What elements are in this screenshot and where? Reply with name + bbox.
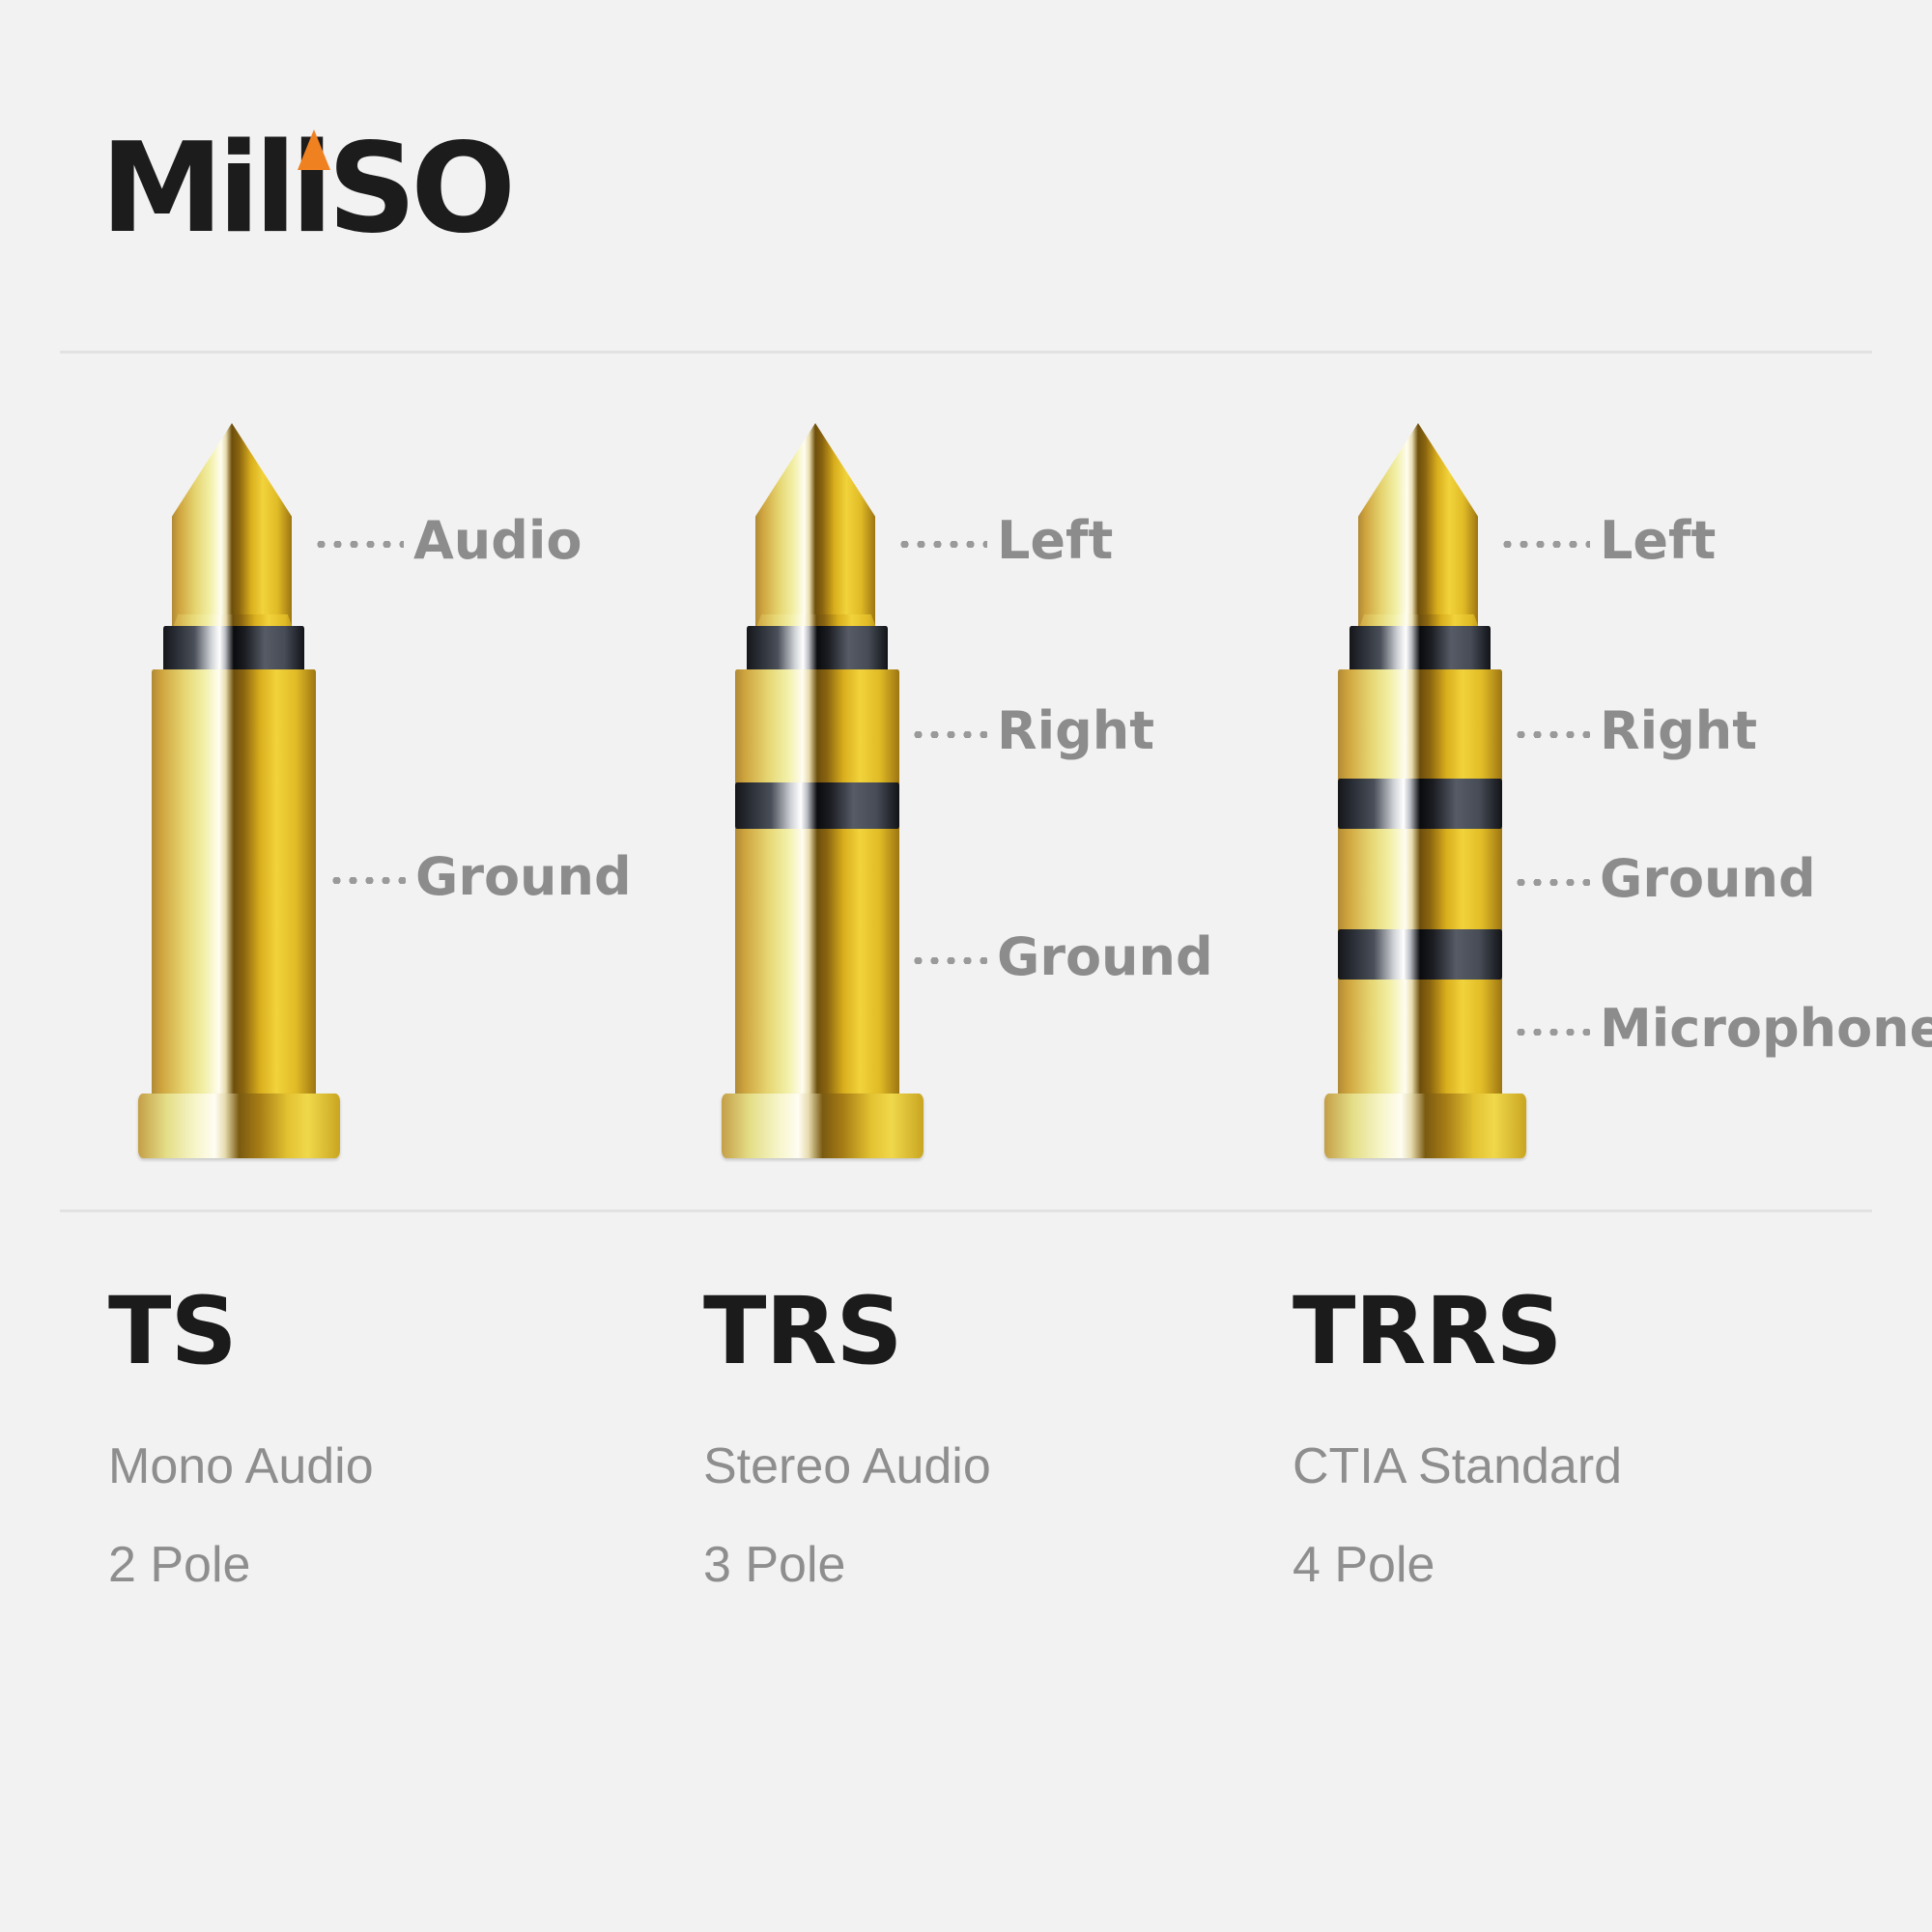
- info-poles-trs: 3 Pole: [703, 1540, 991, 1590]
- trrs-band-2: [1338, 779, 1502, 829]
- info-description-ts: Mono Audio: [108, 1441, 374, 1492]
- info-description-trrs: CTIA Standard: [1293, 1441, 1622, 1492]
- trrs-sleeve-shaft: [1338, 669, 1502, 1096]
- trs-band-2: [735, 782, 899, 829]
- ts-leader-ground: [328, 877, 406, 884]
- ts-label-audio: Audio: [413, 515, 582, 567]
- trrs-label-left: Left: [1600, 515, 1716, 567]
- info-title-trs: TRS: [703, 1285, 991, 1378]
- divider-top: [60, 351, 1872, 354]
- info-title-ts: TS: [108, 1285, 374, 1378]
- trrs-base-flange: [1324, 1094, 1526, 1158]
- trrs-label-right: Right: [1600, 705, 1757, 757]
- connector-illustrations: Audio Ground Left Right Ground: [0, 0, 1932, 1932]
- logo-triangle-accent-icon: [298, 129, 330, 170]
- trs-tip-cone: [755, 423, 875, 626]
- info-block-trrs: TRRS CTIA Standard 4 Pole: [1293, 1285, 1622, 1590]
- info-poles-trrs: 4 Pole: [1293, 1540, 1622, 1590]
- trs-leader-right: [910, 731, 987, 738]
- info-poles-ts: 2 Pole: [108, 1540, 374, 1590]
- trrs-band-3: [1338, 929, 1502, 980]
- ts-base-flange: [138, 1094, 340, 1158]
- brand-logo: MillSO: [100, 135, 510, 251]
- info-block-ts: TS Mono Audio 2 Pole: [108, 1285, 374, 1590]
- trs-label-right: Right: [997, 705, 1154, 757]
- ts-leader-audio: [313, 541, 404, 548]
- trrs-label-microphone: Microphone: [1600, 1003, 1932, 1055]
- info-block-trs: TRS Stereo Audio 3 Pole: [703, 1285, 991, 1590]
- trs-label-left: Left: [997, 515, 1113, 567]
- ts-tip-cone: [172, 423, 292, 626]
- trrs-leader-microphone: [1513, 1029, 1590, 1036]
- divider-bottom: [60, 1209, 1872, 1212]
- ts-band-1: [163, 626, 304, 672]
- trs-label-ground: Ground: [997, 931, 1213, 983]
- info-title-trrs: TRRS: [1293, 1285, 1622, 1378]
- trs-base-flange: [722, 1094, 923, 1158]
- trs-leader-ground: [910, 957, 987, 964]
- trrs-label-ground: Ground: [1600, 853, 1816, 905]
- trs-leader-left: [896, 541, 987, 548]
- info-description-trs: Stereo Audio: [703, 1441, 991, 1492]
- trrs-leader-left: [1499, 541, 1590, 548]
- trrs-band-1: [1350, 626, 1491, 672]
- trrs-leader-ground: [1513, 879, 1590, 886]
- trs-sleeve-shaft: [735, 669, 899, 1096]
- ts-label-ground: Ground: [415, 851, 632, 903]
- ts-sleeve-shaft: [152, 669, 316, 1096]
- trrs-tip-cone: [1358, 423, 1478, 626]
- trs-band-1: [747, 626, 888, 672]
- trrs-leader-right: [1513, 731, 1590, 738]
